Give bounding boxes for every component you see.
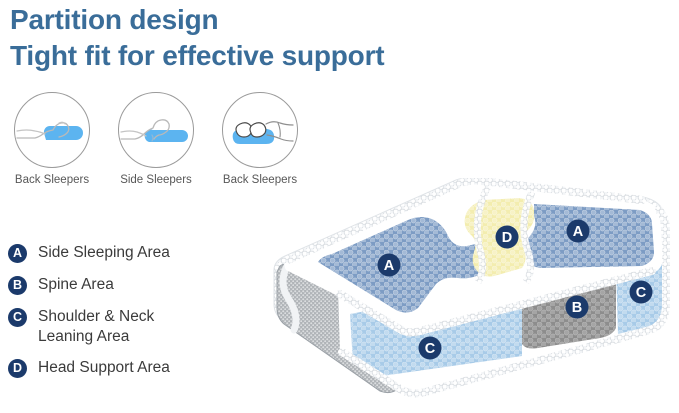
pillow-zone-badge-a-left: A [378,254,401,277]
pillow-zone-badge-d: D [496,226,519,249]
legend-badge-d: D [8,359,27,378]
pillow-zone-badge-a-right: A [567,220,590,243]
sleeper-icon-cell-2: Side Sleepers [110,92,202,186]
pillow-zone-badge-b: B [566,296,589,319]
headline-line-1: Partition design [10,2,530,38]
headline-line-2: Tight fit for effective support [10,38,530,74]
legend-label-c: Shoulder & Neck Leaning Area [38,307,154,346]
pillow-badge-label-c-front: C [425,341,436,357]
zone-legend: A Side Sleeping Area B Spine Area C Shou… [8,243,223,378]
sleeper-icon-cell-3: Back Sleepers [214,92,306,186]
legend-badge-c: C [8,308,27,327]
sleeper-icon-label-2: Side Sleepers [120,174,192,186]
legend-badge-a: A [8,244,27,263]
legend-label-b: Spine Area [38,275,114,295]
infographic-page: Partition design Tight fit for effective… [0,0,679,413]
pillow-badge-label-c-right: C [636,285,647,301]
sleeper-icon-cell-1: Back Sleepers [6,92,98,186]
pillow-badge-label-b: B [572,300,582,316]
side-sleeper-icon [118,92,194,168]
legend-item-a: A Side Sleeping Area [8,243,223,263]
legend-item-b: B Spine Area [8,275,223,295]
back-sleeper-side-view-icon [14,92,90,168]
pillow-badge-label-a-right: A [573,224,584,240]
legend-label-d: Head Support Area [38,358,170,378]
pillow-badge-label-d: D [502,230,512,246]
pillow-badge-label-a-left: A [384,258,395,274]
pillow-illustration: A D A B C C [222,178,679,413]
legend-label-a: Side Sleeping Area [38,243,170,263]
legend-badge-b: B [8,276,27,295]
pillow-zone-a-right [525,204,654,268]
page-title: Partition design Tight fit for effective… [10,2,530,74]
legend-item-c: C Shoulder & Neck Leaning Area [8,307,223,346]
pillow-zone-badge-c-right: C [630,281,653,304]
pillow-zone-badge-c-front: C [419,337,442,360]
legend-item-d: D Head Support Area [8,358,223,378]
sleeper-icon-label-1: Back Sleepers [15,174,89,186]
back-sleeper-top-view-icon [222,92,298,168]
sleeper-icon-row: Back Sleepers Side Sleepers [6,92,306,186]
